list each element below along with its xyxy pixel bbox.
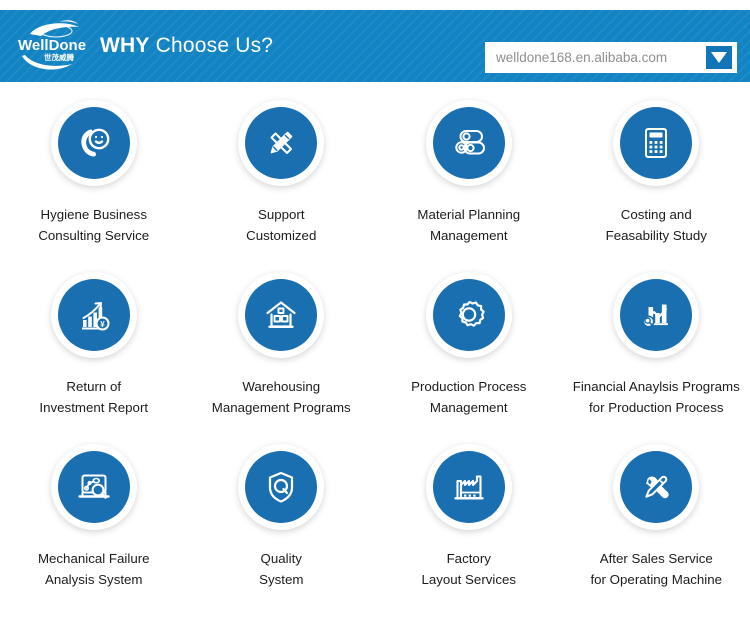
pipe-rolls-icon xyxy=(433,107,505,179)
icon-badge[interactable]: ¥ xyxy=(51,272,137,358)
grid-item-label: Warehousing Management Programs xyxy=(208,376,355,418)
url-bar[interactable]: welldone168.en.alibaba.com xyxy=(485,42,737,73)
gear-icon xyxy=(433,279,505,351)
phone-smiley-icon xyxy=(58,107,130,179)
grid-item-label: After Sales Service for Operating Machin… xyxy=(586,548,726,590)
grid-item[interactable]: Hygiene Business Consulting Service xyxy=(0,92,188,264)
icon-badge[interactable] xyxy=(613,444,699,530)
svg-text:¥: ¥ xyxy=(100,320,105,329)
welldone-logo[interactable]: WellDone 世茂威腾 xyxy=(16,16,96,74)
grid-item-label: Costing and Feasability Study xyxy=(602,204,711,246)
factory-icon xyxy=(433,451,505,523)
grid-item-label: Financial Anaylsis Programs for Producti… xyxy=(569,376,744,418)
grid-item[interactable]: Financial Anaylsis Programs for Producti… xyxy=(563,264,750,436)
calculator-icon xyxy=(620,107,692,179)
url-input[interactable]: welldone168.en.alibaba.com xyxy=(496,50,706,65)
grid-item-label: Quality System xyxy=(255,548,307,590)
icon-badge[interactable] xyxy=(426,444,512,530)
grid-item-label: Production Process Management xyxy=(407,376,530,418)
page-title-rest: Choose Us? xyxy=(150,34,274,57)
grid-item[interactable]: Factory Layout Services xyxy=(375,436,563,608)
icon-badge[interactable] xyxy=(426,100,512,186)
header-banner: WellDone 世茂威腾 WHY Choose Us? welldone168… xyxy=(0,10,750,82)
grid-item[interactable]: Support Customized xyxy=(188,92,376,264)
grid-item[interactable]: Material Planning Management xyxy=(375,92,563,264)
page-title: WHY Choose Us? xyxy=(100,34,273,58)
grid-item[interactable]: ¥ Return of Investment Report xyxy=(0,264,188,436)
icon-badge[interactable] xyxy=(613,272,699,358)
svg-text:WellDone: WellDone xyxy=(18,37,86,54)
grid-item-label: Hygiene Business Consulting Service xyxy=(34,204,153,246)
svg-text:世茂威腾: 世茂威腾 xyxy=(44,52,74,62)
monitor-robot-search-icon xyxy=(58,451,130,523)
pencil-ruler-icon xyxy=(245,107,317,179)
growth-chart-yen-icon: ¥ xyxy=(58,279,130,351)
grid-item[interactable]: Production Process Management xyxy=(375,264,563,436)
wrench-screwdriver-icon xyxy=(620,451,692,523)
chevron-down-icon[interactable] xyxy=(706,46,732,69)
warehouse-house-icon xyxy=(245,279,317,351)
icon-badge[interactable] xyxy=(238,444,324,530)
icon-badge[interactable] xyxy=(51,444,137,530)
page-root: WellDone 世茂威腾 WHY Choose Us? welldone168… xyxy=(0,0,750,624)
grid-item-label: Mechanical Failure Analysis System xyxy=(34,548,154,590)
icon-badge[interactable] xyxy=(238,100,324,186)
grid-item-label: Factory Layout Services xyxy=(417,548,520,590)
grid-item[interactable]: After Sales Service for Operating Machin… xyxy=(563,436,750,608)
grid-item-label: Material Planning Management xyxy=(413,204,524,246)
icon-badge[interactable] xyxy=(426,272,512,358)
feature-grid: Hygiene Business Consulting Service xyxy=(0,92,750,624)
page-title-strong: WHY xyxy=(100,34,150,57)
grid-item-label: Support Customized xyxy=(242,204,320,246)
icon-badge[interactable] xyxy=(238,272,324,358)
grid-item-label: Return of Investment Report xyxy=(35,376,152,418)
grid-item[interactable]: Costing and Feasability Study xyxy=(563,92,750,264)
shield-q-icon xyxy=(245,451,317,523)
chart-magnifier-icon xyxy=(620,279,692,351)
grid-item[interactable]: Mechanical Failure Analysis System xyxy=(0,436,188,608)
icon-badge[interactable] xyxy=(613,100,699,186)
grid-item[interactable]: Quality System xyxy=(188,436,376,608)
icon-badge[interactable] xyxy=(51,100,137,186)
grid-item[interactable]: Warehousing Management Programs xyxy=(188,264,376,436)
